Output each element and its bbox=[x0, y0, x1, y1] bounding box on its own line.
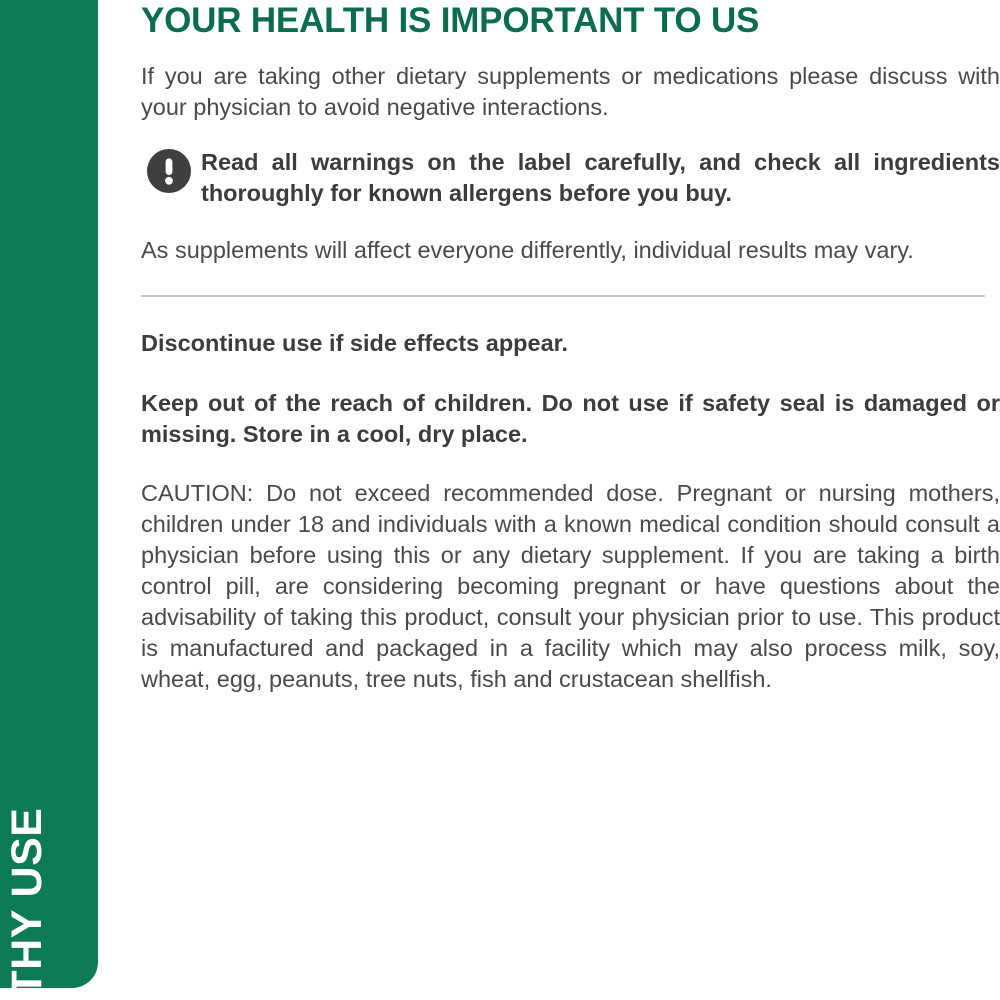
side-tab-label: HEALTHY USE bbox=[6, 808, 49, 988]
paragraph-results-vary: As supplements will affect everyone diff… bbox=[141, 235, 1000, 266]
healthy-use-panel: HEALTHY USE YOUR HEALTH IS IMPORTANT TO … bbox=[0, 0, 1000, 1000]
bold-note-discontinue-use: Discontinue use if side effects appear. bbox=[141, 328, 1000, 359]
section-divider bbox=[141, 295, 985, 297]
page-title: YOUR HEALTH IS IMPORTANT TO US bbox=[141, 0, 1000, 42]
bold-note-keep-out-of-reach: Keep out of the reach of children. Do no… bbox=[141, 388, 1000, 450]
warning-callout-text: Read all warnings on the label carefully… bbox=[201, 147, 1000, 209]
paragraph-intro: If you are taking other dietary suppleme… bbox=[141, 61, 1000, 123]
content-column: YOUR HEALTH IS IMPORTANT TO US If you ar… bbox=[141, 0, 1000, 1000]
side-tab-healthy-use: HEALTHY USE bbox=[0, 0, 98, 988]
exclamation-circle-icon bbox=[147, 149, 191, 193]
warning-callout: Read all warnings on the label carefully… bbox=[141, 147, 1000, 209]
paragraph-caution: CAUTION: Do not exceed recommended dose.… bbox=[141, 478, 1000, 695]
